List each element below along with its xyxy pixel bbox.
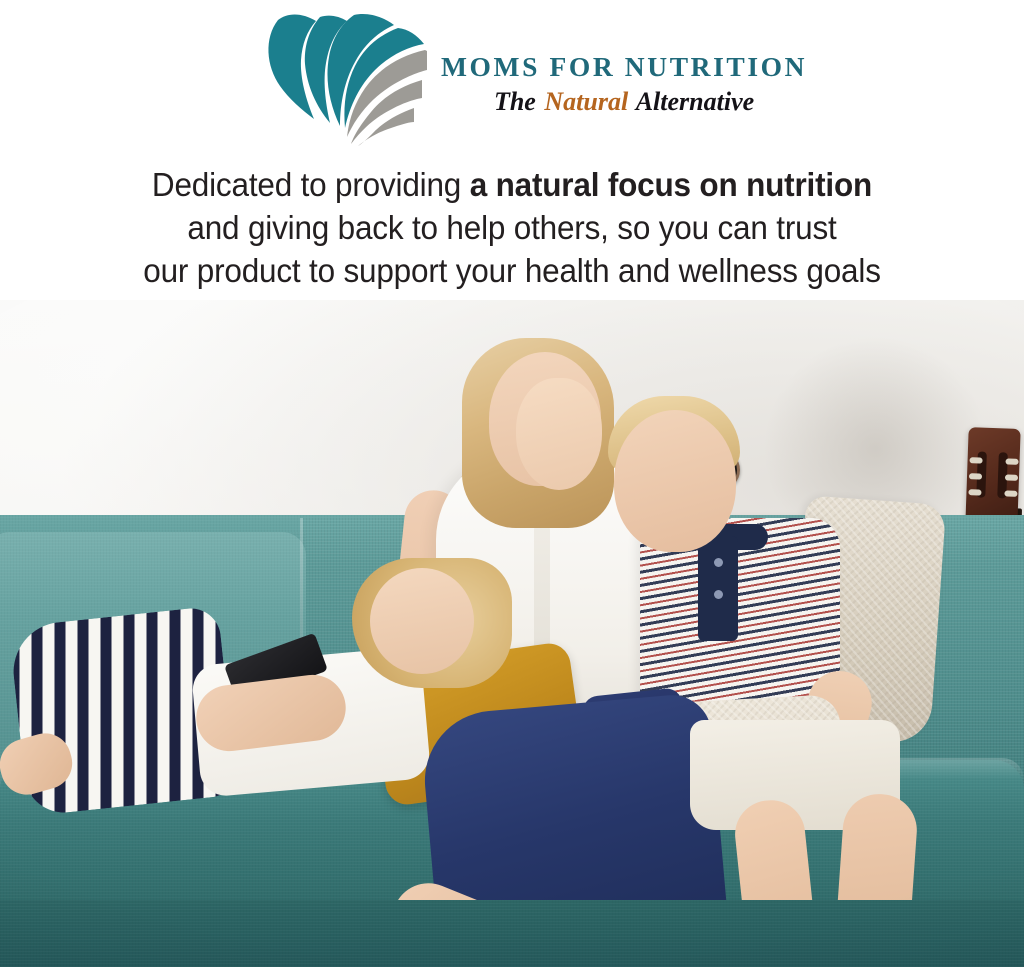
tagline-natural: Natural [542, 87, 630, 116]
tagline-alternative: Alternative [636, 87, 754, 116]
headline-line-1: Dedicated to providing a natural focus o… [31, 164, 994, 207]
heart-swoosh-logo-icon [262, 4, 427, 146]
family-photo [0, 300, 1024, 967]
boy-placket [698, 536, 738, 641]
girl-head [370, 568, 474, 674]
headline-line-1-bold: a natural focus on nutrition [470, 167, 872, 204]
guitar-headstock [965, 427, 1020, 527]
boy-head [614, 410, 736, 552]
brand-wordmark: MOMS FOR NUTRITION The Natural Alternati… [441, 33, 807, 117]
sofa-base [0, 900, 1024, 967]
header: MOMS FOR NUTRITION The Natural Alternati… [0, 0, 1024, 150]
brand-name: MOMS FOR NUTRITION [441, 53, 807, 81]
headline-line-1-regular: Dedicated to providing [152, 167, 470, 204]
headline-line-2: and giving back to help others, so you c… [31, 207, 994, 250]
brand-logo[interactable]: MOMS FOR NUTRITION The Natural Alternati… [262, 4, 807, 146]
promo-page: MOMS FOR NUTRITION The Natural Alternati… [0, 0, 1024, 967]
headline-block: Dedicated to providing a natural focus o… [31, 164, 994, 293]
headline-line-3: our product to support your health and w… [31, 250, 994, 293]
mother-face [516, 378, 602, 490]
tagline-the: The [494, 87, 536, 116]
brand-tagline: The Natural Alternative [441, 87, 807, 117]
